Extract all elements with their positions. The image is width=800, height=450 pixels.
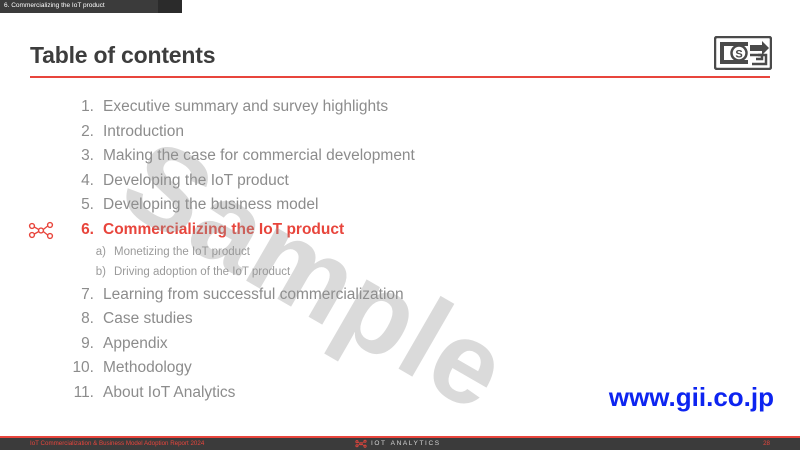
list-item-active[interactable]: 6. Commercializing the IoT product: [60, 221, 580, 246]
footer-brand: IOT ANALYTICS: [355, 439, 441, 448]
list-item[interactable]: 4. Developing the IoT product: [60, 172, 580, 197]
list-item-label: Making the case for commercial developme…: [103, 147, 415, 165]
list-item[interactable]: 3. Making the case for commercial develo…: [60, 147, 580, 172]
list-item-number: b): [60, 266, 114, 278]
title-divider: [30, 76, 770, 78]
list-item-number: 8.: [60, 310, 103, 328]
list-item-number: 10.: [60, 359, 103, 377]
network-nodes-icon: [355, 439, 367, 448]
list-item-label: Developing the business model: [103, 196, 318, 214]
page-title: Table of contents: [30, 42, 215, 69]
list-item-number: 11.: [60, 384, 103, 402]
list-item-number: 1.: [60, 98, 103, 116]
list-item-number: 9.: [60, 335, 103, 353]
list-item-number: a): [60, 246, 114, 258]
list-item-label: Monetizing the IoT product: [114, 246, 250, 258]
slide-footer: IoT Commercialization & Business Model A…: [0, 436, 800, 450]
list-item-label: Driving adoption of the IoT product: [114, 266, 290, 278]
list-item-number: 4.: [60, 172, 103, 190]
list-item-number: 3.: [60, 147, 103, 165]
page-number: 28: [763, 440, 770, 447]
list-item[interactable]: 7. Learning from successful commercializ…: [60, 286, 580, 311]
list-item[interactable]: 5. Developing the business model: [60, 196, 580, 221]
list-item[interactable]: 1. Executive summary and survey highligh…: [60, 98, 580, 123]
footer-divider: [0, 436, 800, 438]
list-item-label: Commercializing the IoT product: [103, 221, 344, 239]
website-url[interactable]: www.gii.co.jp: [609, 382, 774, 413]
list-item-number: 6.: [60, 221, 103, 239]
list-item-number: 7.: [60, 286, 103, 304]
list-item-number: 2.: [60, 123, 103, 141]
breadcrumb: 6. Commercializing the IoT product: [4, 2, 105, 9]
list-item-label: Case studies: [103, 310, 193, 328]
list-item-sub[interactable]: a) Monetizing the IoT product: [60, 246, 580, 266]
table-of-contents: 1. Executive summary and survey highligh…: [60, 98, 580, 409]
list-item-label: Learning from successful commercializati…: [103, 286, 404, 304]
list-item[interactable]: 10. Methodology: [60, 359, 580, 384]
breadcrumb-bar: 6. Commercializing the IoT product: [0, 0, 800, 14]
list-item-label: Methodology: [103, 359, 192, 377]
slide-body: Table of contents S 1. Executive summary…: [0, 14, 800, 436]
footer-brand-light: ANALYTICS: [391, 440, 441, 447]
list-item[interactable]: 8. Case studies: [60, 310, 580, 335]
list-item-label: Executive summary and survey highlights: [103, 98, 388, 116]
list-item-label: Appendix: [103, 335, 168, 353]
footer-report-title: IoT Commercialization & Business Model A…: [30, 440, 204, 447]
list-item[interactable]: 2. Introduction: [60, 123, 580, 148]
list-item-sub[interactable]: b) Driving adoption of the IoT product: [60, 266, 580, 286]
list-item[interactable]: 11. About IoT Analytics: [60, 384, 580, 409]
breadcrumb-background-secondary: [158, 0, 182, 13]
list-item-label: Developing the IoT product: [103, 172, 289, 190]
svg-text:S: S: [735, 49, 742, 61]
list-item[interactable]: 9. Appendix: [60, 335, 580, 360]
footer-brand-bold: IOT: [371, 440, 387, 447]
list-item-number: 5.: [60, 196, 103, 214]
list-item-label: Introduction: [103, 123, 184, 141]
network-nodes-icon: [28, 220, 54, 240]
money-arrow-icon: S: [714, 36, 772, 70]
list-item-label: About IoT Analytics: [103, 384, 235, 402]
